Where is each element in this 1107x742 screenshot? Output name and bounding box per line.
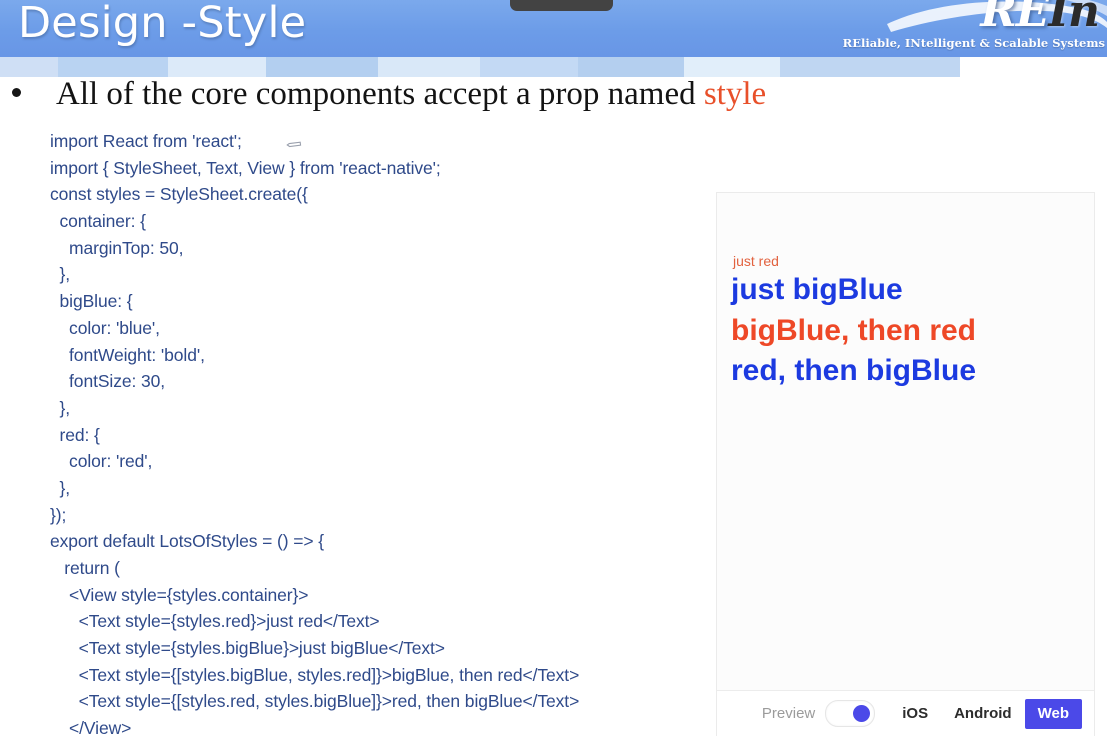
preview-toolbar: Preview iOS Android Web xyxy=(717,690,1094,736)
code-line: red: { xyxy=(50,422,710,449)
logo-mark-dark: In xyxy=(1048,0,1099,37)
bullet-text: All of the core components accept a prop… xyxy=(56,76,766,113)
platform-button-android[interactable]: Android xyxy=(941,699,1025,729)
toggle-knob xyxy=(853,705,870,722)
preview-canvas: just red just bigBlue bigBlue, then red … xyxy=(717,193,1094,690)
logo: REIn REliable, INtelligent & Scalable Sy… xyxy=(877,0,1107,57)
bullet-dot-icon xyxy=(12,88,21,97)
page-title: Design -Style xyxy=(18,0,306,48)
preview-text-just-bigblue: just bigBlue xyxy=(731,273,903,307)
code-line: fontSize: 30, xyxy=(50,368,710,395)
camera-notch xyxy=(510,0,613,11)
bullet-keyword: style xyxy=(704,76,766,112)
code-line: marginTop: 50, xyxy=(50,235,710,262)
logo-mark-light: RE xyxy=(980,0,1048,37)
platform-button-web[interactable]: Web xyxy=(1025,699,1082,729)
decorative-band-block xyxy=(780,57,960,77)
code-line: </View> xyxy=(50,715,710,742)
preview-panel: just red just bigBlue bigBlue, then red … xyxy=(716,192,1095,736)
decorative-band xyxy=(0,57,1107,77)
code-line: <View style={styles.container}> xyxy=(50,582,710,609)
logo-wordmark: REIn xyxy=(980,0,1099,37)
decorative-band-block xyxy=(0,57,58,77)
code-line: }, xyxy=(50,395,710,422)
code-line: container: { xyxy=(50,208,710,235)
preview-toggle-switch[interactable] xyxy=(825,700,875,727)
decorative-band-block xyxy=(266,57,378,77)
bullet-lead: All of the core components accept a prop… xyxy=(56,76,704,112)
preview-text-just-red: just red xyxy=(733,253,779,269)
code-line: return ( xyxy=(50,555,710,582)
decorative-band-block xyxy=(684,57,780,77)
decorative-band-block xyxy=(168,57,266,77)
code-line: export default LotsOfStyles = () => { xyxy=(50,528,710,555)
code-line: }); xyxy=(50,502,710,529)
code-line: <Text style={styles.red}>just red</Text> xyxy=(50,608,710,635)
code-line: import { StyleSheet, Text, View } from '… xyxy=(50,155,710,182)
code-line: <Text style={styles.bigBlue}>just bigBlu… xyxy=(50,635,710,662)
decorative-band-block xyxy=(378,57,480,77)
code-line: bigBlue: { xyxy=(50,288,710,315)
code-line: }, xyxy=(50,261,710,288)
slide-header: Design -Style REIn REliable, INtelligent… xyxy=(0,0,1107,57)
decorative-band-block xyxy=(960,57,1107,77)
code-block: import React from 'react';import { Style… xyxy=(50,128,710,742)
decorative-band-block xyxy=(480,57,578,77)
code-line: <Text style={[styles.red, styles.bigBlue… xyxy=(50,688,710,715)
code-line: <Text style={[styles.bigBlue, styles.red… xyxy=(50,662,710,689)
bullet-row: All of the core components accept a prop… xyxy=(0,76,1000,120)
platform-button-ios[interactable]: iOS xyxy=(889,699,941,729)
code-line: color: 'blue', xyxy=(50,315,710,342)
code-line: color: 'red', xyxy=(50,448,710,475)
decorative-band-block xyxy=(58,57,168,77)
code-line: const styles = StyleSheet.create({ xyxy=(50,181,710,208)
preview-toggle-label: Preview xyxy=(762,705,815,722)
code-line: import React from 'react'; xyxy=(50,128,710,155)
code-line: }, xyxy=(50,475,710,502)
logo-tagline: REliable, INtelligent & Scalable Systems xyxy=(843,36,1105,50)
code-line: fontWeight: 'bold', xyxy=(50,342,710,369)
preview-text-red-then-bigblue: red, then bigBlue xyxy=(731,354,976,388)
decorative-band-block xyxy=(578,57,684,77)
preview-text-bigblue-then-red: bigBlue, then red xyxy=(731,314,976,348)
